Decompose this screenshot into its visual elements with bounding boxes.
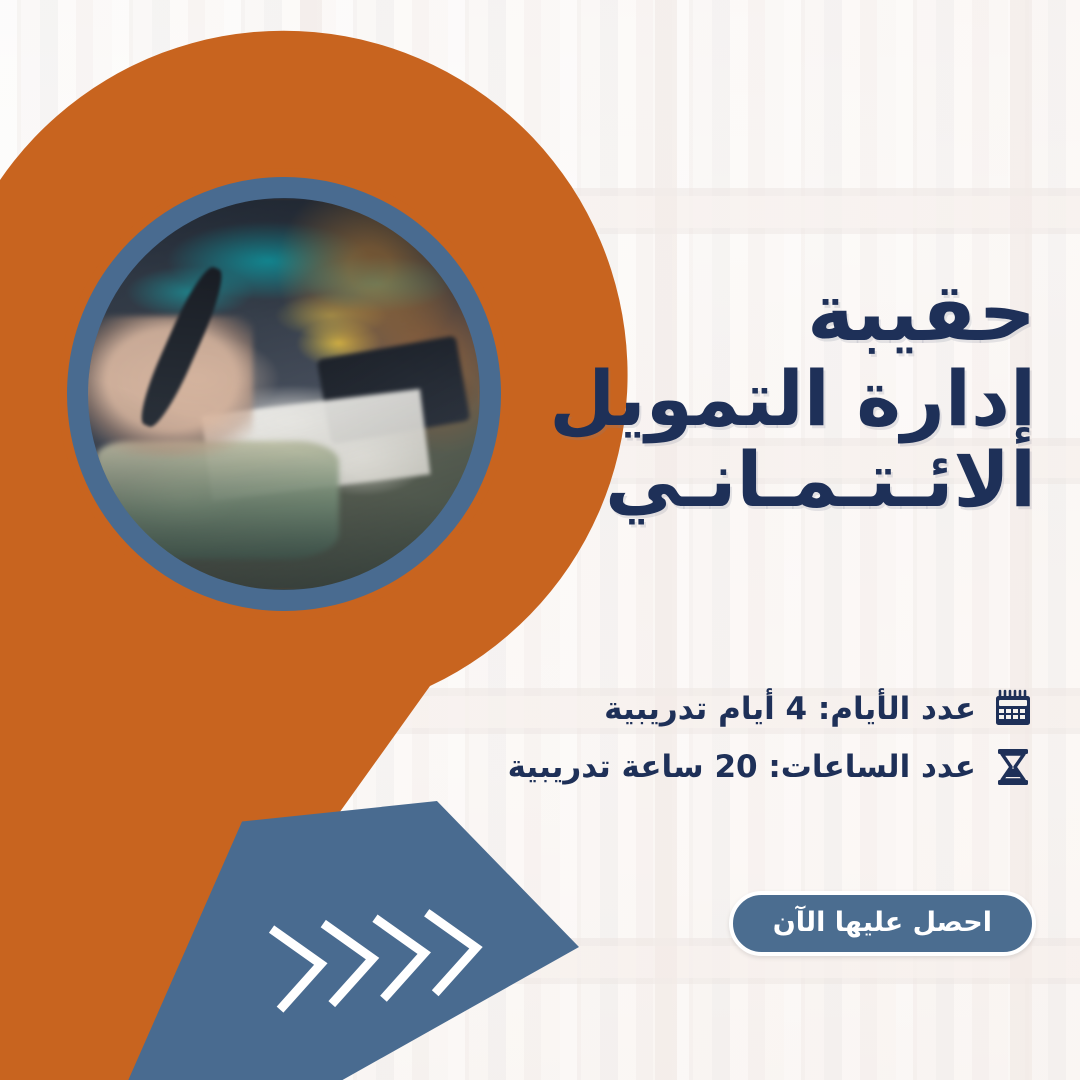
hourglass-icon: [990, 744, 1036, 790]
calendar-icon: [990, 686, 1036, 732]
detail-text-hours: عدد الساعات: 20 ساعة تدريبية: [508, 749, 976, 785]
title-line-2: إدارة التمويل: [416, 360, 1036, 438]
detail-row-hours: عدد الساعات: 20 ساعة تدريبية: [416, 744, 1036, 790]
cta-button[interactable]: احصل عليها الآن: [729, 891, 1036, 956]
page-title: حقيبة إدارة التمويل الائـتـمـانـي: [416, 272, 1036, 519]
detail-row-days: عدد الأيام: 4 أيام تدريبية: [416, 686, 1036, 732]
title-line-1: حقيبة: [416, 272, 1036, 354]
title-line-3: الائـتـمـانـي: [416, 441, 1036, 519]
chevron-right-icon: [275, 927, 325, 1006]
chevron-right-icon: [379, 916, 429, 995]
detail-text-days: عدد الأيام: 4 أيام تدريبية: [604, 691, 976, 727]
chevron-right-icon: [327, 922, 377, 1001]
course-details: عدد الأيام: 4 أيام تدريبية عدد الساعات: …: [416, 686, 1036, 802]
chevron-right-icon: [430, 911, 480, 990]
poster-canvas: حقيبة إدارة التمويل الائـتـمـانـي: [0, 0, 1080, 1080]
